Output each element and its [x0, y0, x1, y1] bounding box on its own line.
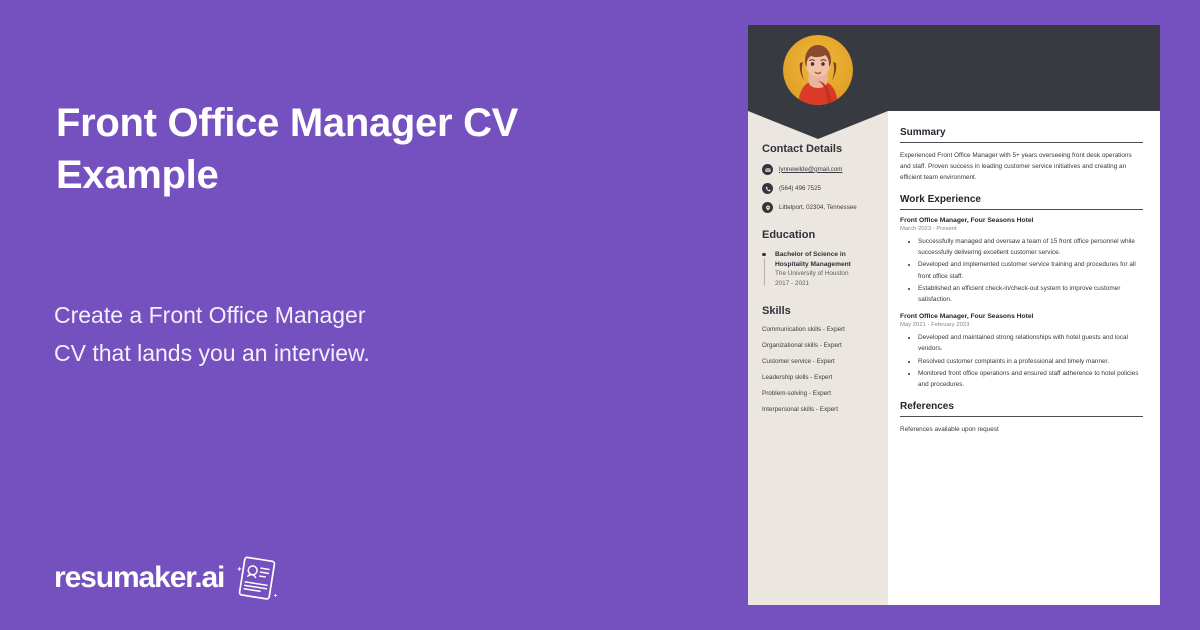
work-experience-heading: Work Experience: [900, 194, 1143, 209]
header-chevron-notch: [748, 111, 888, 139]
skill-item: Interpersonal skills - Expert: [762, 406, 874, 413]
references-heading: References: [900, 401, 1143, 416]
education-dates: 2017 - 2021: [775, 279, 874, 289]
phone-icon: [762, 183, 773, 194]
education-item: Bachelor of Science in Hospitality Manag…: [762, 250, 874, 288]
job-bullet: Developed and implemented customer servi…: [918, 259, 1143, 281]
skill-item: Leadership skills - Expert: [762, 374, 874, 381]
job-dates: March 2023 - Present: [900, 226, 1143, 232]
contact-item-email[interactable]: lynnewilde@gmail.com: [762, 164, 874, 175]
job-bullet: Established an efficient check-in/check-…: [918, 283, 1143, 305]
section-divider: [900, 142, 1143, 143]
job-dates: May 2021 - February 2023: [900, 322, 1143, 328]
cv-main-column: Summary Experienced Front Office Manager…: [888, 111, 1160, 446]
job-bullet-list: Successfully managed and oversaw a team …: [900, 236, 1143, 305]
timeline-line: [764, 258, 765, 286]
work-experience-section: Work Experience Front Office Manager, Fo…: [900, 194, 1143, 390]
contact-email-text: lynnewilde@gmail.com: [779, 166, 842, 173]
job-bullet-list: Developed and maintained strong relation…: [900, 332, 1143, 390]
job-bullet: Successfully managed and oversaw a team …: [918, 236, 1143, 258]
promo-subtitle: Create a Front Office Manager CV that la…: [54, 296, 394, 372]
references-section: References References available upon req…: [900, 401, 1143, 435]
skill-item: Communication skills - Expert: [762, 326, 874, 333]
summary-heading: Summary: [900, 127, 1143, 142]
contact-details-heading: Contact Details: [762, 143, 874, 155]
cv-preview-card[interactable]: Lynne Wilde Front Office Manager Contact…: [748, 25, 1160, 605]
summary-section: Summary Experienced Front Office Manager…: [900, 127, 1143, 183]
summary-text: Experienced Front Office Manager with 5+…: [900, 150, 1143, 183]
job-title: Front Office Manager, Four Seasons Hotel: [900, 217, 1143, 224]
section-divider: [900, 416, 1143, 417]
job-bullet: Resolved customer complaints in a profes…: [918, 356, 1143, 367]
contact-item-address[interactable]: Littelport, 02304, Tennessee: [762, 202, 874, 213]
resumaker-logo[interactable]: resumaker.ai: [54, 552, 282, 604]
job-entry: Front Office Manager, Four Seasons Hotel…: [900, 313, 1143, 390]
section-divider: [900, 209, 1143, 210]
education-section: Education Bachelor of Science in Hospita…: [762, 229, 874, 288]
promo-panel: Front Office Manager CV Example Create a…: [0, 0, 748, 630]
contact-phone-text: (564) 496 7525: [779, 185, 821, 192]
contact-item-phone[interactable]: (564) 496 7525: [762, 183, 874, 194]
cv-sidebar: Contact Details lynnewilde@gmail.com (56…: [748, 143, 888, 422]
avatar: [783, 35, 853, 105]
skill-item: Organizational skills - Expert: [762, 342, 874, 349]
references-text: References available upon request: [900, 424, 1143, 435]
education-degree: Bachelor of Science in Hospitality Manag…: [775, 250, 874, 269]
job-entry: Front Office Manager, Four Seasons Hotel…: [900, 217, 1143, 305]
location-pin-icon: [762, 202, 773, 213]
skill-item: Problem-solving - Expert: [762, 390, 874, 397]
job-bullet: Monitored front office operations and en…: [918, 368, 1143, 390]
document-card-icon: [230, 552, 282, 604]
page-title: Front Office Manager CV Example: [56, 97, 526, 201]
skill-item: Customer service - Expert: [762, 358, 874, 365]
education-heading: Education: [762, 229, 874, 241]
education-school: The University of Houston: [775, 269, 874, 279]
envelope-icon: [762, 164, 773, 175]
skills-heading: Skills: [762, 305, 874, 317]
bullet-dot-icon: [762, 253, 766, 257]
job-bullet: Developed and maintained strong relation…: [918, 332, 1143, 354]
contact-address-text: Littelport, 02304, Tennessee: [779, 204, 857, 211]
job-title: Front Office Manager, Four Seasons Hotel: [900, 313, 1143, 320]
logo-wordmark: resumaker.ai: [54, 561, 224, 595]
skills-section: Skills Communication skills - Expert Org…: [762, 305, 874, 413]
